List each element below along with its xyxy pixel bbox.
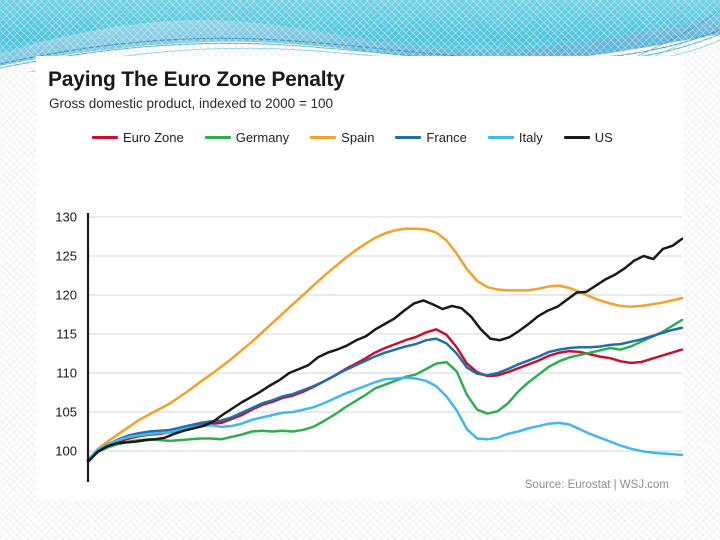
legend-swatch-icon xyxy=(310,136,336,139)
legend-item-label: France xyxy=(426,130,466,145)
legend-item-spain[interactable]: Spain xyxy=(310,130,374,145)
legend-item-label: US xyxy=(595,130,613,145)
page-title: Paying The Euro Zone Penalty xyxy=(48,68,345,92)
legend-item-label: Euro Zone xyxy=(123,130,184,145)
presentation-slide: Paying The Euro Zone Penalty Gross domes… xyxy=(0,0,720,540)
legend-item-france[interactable]: France xyxy=(395,130,466,145)
legend-item-label: Spain xyxy=(341,130,374,145)
y-axis-tick-label: 115 xyxy=(56,327,77,342)
y-axis-tick-label: 130 xyxy=(55,210,77,225)
legend-item-label: Germany xyxy=(236,130,289,145)
series-line-spain xyxy=(88,229,682,460)
legend-swatch-icon xyxy=(488,136,514,139)
legend-item-germany[interactable]: Germany xyxy=(205,130,289,145)
y-axis-tick-label: 100 xyxy=(55,444,77,459)
y-axis-tick-label: 110 xyxy=(56,366,77,381)
legend-item-euro-zone[interactable]: Euro Zone xyxy=(92,130,184,145)
chart-legend: Euro ZoneGermanySpainFranceItalyUS xyxy=(92,127,672,147)
y-axis-tick-label: 120 xyxy=(55,288,77,303)
legend-item-italy[interactable]: Italy xyxy=(488,130,543,145)
chart-card: Paying The Euro Zone Penalty Gross domes… xyxy=(36,56,684,500)
legend-item-label: Italy xyxy=(519,130,543,145)
chart-subtitle: Gross domestic product, indexed to 2000 … xyxy=(49,96,333,111)
legend-swatch-icon xyxy=(205,136,231,139)
source-attribution: Source: Eurostat | WSJ.com xyxy=(525,479,669,491)
legend-swatch-icon xyxy=(92,136,118,139)
gdp-index-line-chart: 951001051101151201251302000'01'02'03'04'… xyxy=(36,152,684,482)
legend-swatch-icon xyxy=(395,136,421,139)
y-axis-tick-label: 125 xyxy=(55,249,77,264)
series-line-germany xyxy=(88,320,682,461)
legend-swatch-icon xyxy=(564,136,590,139)
legend-item-us[interactable]: US xyxy=(564,130,613,145)
series-line-italy xyxy=(88,378,682,460)
y-axis-tick-label: 105 xyxy=(55,405,77,420)
